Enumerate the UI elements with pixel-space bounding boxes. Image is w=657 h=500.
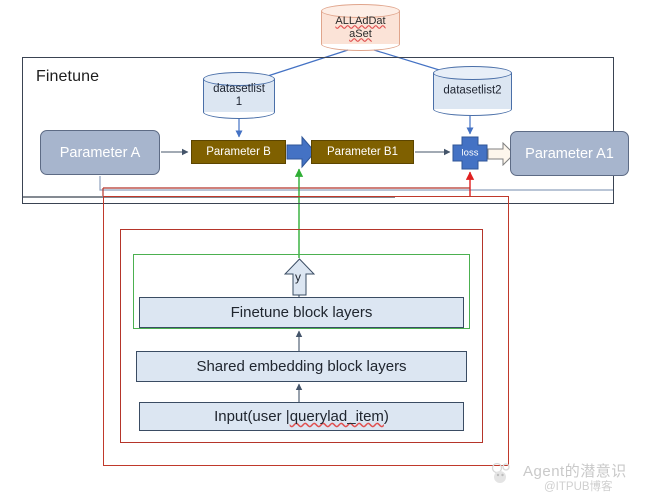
layer-finetune-block: Finetune block layers	[139, 297, 464, 328]
watermark-line2: @ITPUB博客	[544, 478, 613, 494]
all-dataset-line1: ALLAdDat	[335, 15, 385, 27]
datastore-datasetlist1: datasetlist 1	[203, 72, 275, 119]
node-parameter-b1: Parameter B1	[311, 140, 414, 164]
watermark-logo-icon	[489, 462, 519, 484]
node-loss: loss	[452, 136, 488, 170]
input-block-token: querylad_item	[290, 408, 384, 425]
datastore-datasetlist2: datasetlist2	[433, 66, 512, 116]
node-parameter-a1: Parameter A1	[510, 131, 629, 176]
diagram-canvas: Finetune ALLAdDat aSet datasetlist 1 dat…	[0, 0, 657, 500]
all-dataset-line2: aSet	[349, 28, 372, 40]
input-block-prefix: Input(user |	[214, 408, 290, 425]
node-loss-label: loss	[452, 148, 488, 159]
datastore-datasetlist2-label: datasetlist2	[433, 85, 512, 98]
layer-shared-embedding-block: Shared embedding block layers	[136, 351, 467, 382]
output-arrow-label: y	[295, 270, 301, 284]
watermark: Agent的潜意识 @ITPUB博客	[487, 460, 647, 496]
cylinder-top	[433, 66, 512, 80]
datasetlist1-line1: datasetlist	[213, 83, 265, 95]
datastore-datasetlist1-label: datasetlist 1	[203, 83, 275, 109]
datastore-all-ad-dataset: ALLAdDat aSet	[321, 4, 400, 51]
finetune-title: Finetune	[36, 68, 99, 86]
input-block-suffix: )	[384, 408, 389, 425]
datastore-all-ad-dataset-label: ALLAdDat aSet	[321, 15, 400, 41]
datasetlist1-line2: 1	[236, 96, 242, 108]
node-parameter-b: Parameter B	[191, 140, 286, 164]
node-parameter-a: Parameter A	[40, 130, 160, 175]
layer-input-block: Input(user | querylad_item)	[139, 402, 464, 431]
